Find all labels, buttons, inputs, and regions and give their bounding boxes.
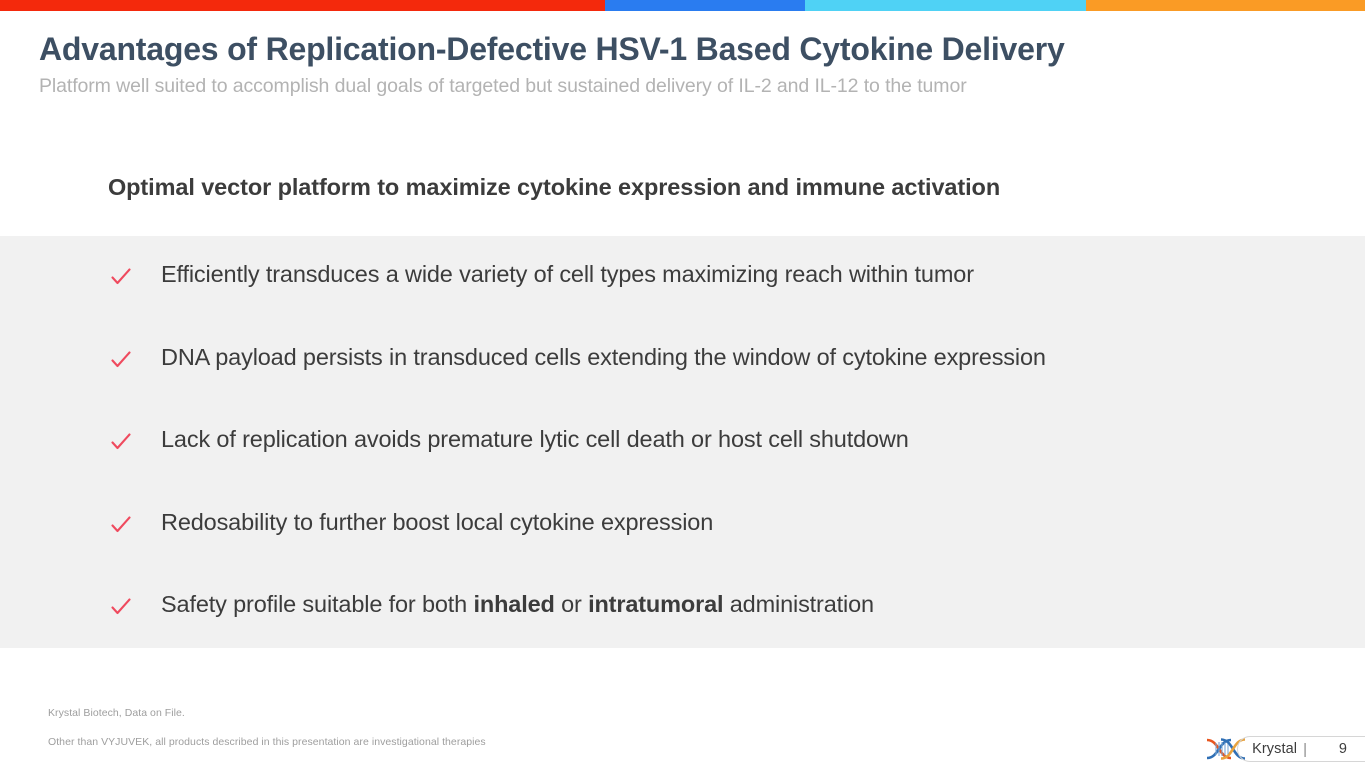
list-item-label: Efficiently transduces a wide variety of… xyxy=(161,260,974,289)
check-icon xyxy=(110,266,132,296)
list-item-label: Redosability to further boost local cyto… xyxy=(161,508,713,537)
advantages-list: Efficiently transduces a wide variety of… xyxy=(0,260,1365,673)
list-item-label: DNA payload persists in transduced cells… xyxy=(161,343,1046,372)
slide-header: Advantages of Replication-Defective HSV-… xyxy=(0,11,1365,98)
list-item: Efficiently transduces a wide variety of… xyxy=(0,260,1365,343)
brand-logo-lockup: Krystal | 9 xyxy=(1203,735,1365,763)
footnote-disclaimer: Other than VYJUVEK, all products describ… xyxy=(48,736,948,749)
accent-segment-red xyxy=(0,0,605,11)
accent-segment-blue xyxy=(605,0,805,11)
top-accent-bar xyxy=(0,0,1365,11)
list-item: Redosability to further boost local cyto… xyxy=(0,508,1365,591)
brand-name: Krystal xyxy=(1252,742,1297,757)
check-icon xyxy=(110,514,132,544)
check-icon xyxy=(110,431,132,461)
list-item-label: Safety profile suitable for both inhaled… xyxy=(161,590,874,619)
list-item: Safety profile suitable for both inhaled… xyxy=(0,590,1365,673)
check-icon xyxy=(110,596,132,626)
check-icon xyxy=(110,349,132,379)
list-item: DNA payload persists in transduced cells… xyxy=(0,343,1365,426)
page-title: Advantages of Replication-Defective HSV-… xyxy=(0,11,1365,68)
accent-segment-orange xyxy=(1086,0,1365,11)
accent-segment-cyan xyxy=(805,0,1086,11)
brand-pill: Krystal | 9 xyxy=(1237,736,1365,762)
brand-divider: | xyxy=(1303,742,1307,757)
list-item-label: Lack of replication avoids premature lyt… xyxy=(161,425,909,454)
footnote-source: Krystal Biotech, Data on File. xyxy=(48,707,948,720)
list-item: Lack of replication avoids premature lyt… xyxy=(0,425,1365,508)
section-heading: Optimal vector platform to maximize cyto… xyxy=(108,172,1288,203)
page-subtitle: Platform well suited to accomplish dual … xyxy=(0,68,1365,98)
footnotes: Krystal Biotech, Data on File. Other tha… xyxy=(48,707,948,749)
page-number: 9 xyxy=(1313,742,1365,757)
content-panel: Efficiently transduces a wide variety of… xyxy=(0,236,1365,648)
